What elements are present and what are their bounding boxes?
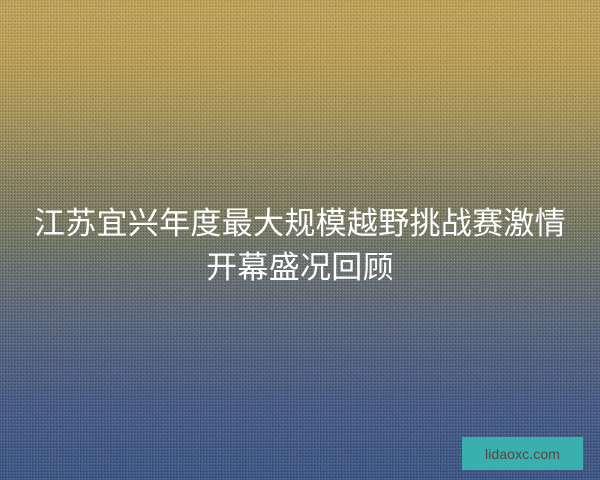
poster-canvas: 江苏宜兴年度最大规模越野挑战赛激情开幕盛况回顾 lidaoxc.com — [0, 0, 600, 480]
watermark-badge-label: lidaoxc.com — [485, 447, 560, 461]
watermark-badge[interactable]: lidaoxc.com — [462, 437, 583, 470]
poster-title: 江苏宜兴年度最大规模越野挑战赛激情开幕盛况回顾 — [0, 202, 600, 290]
